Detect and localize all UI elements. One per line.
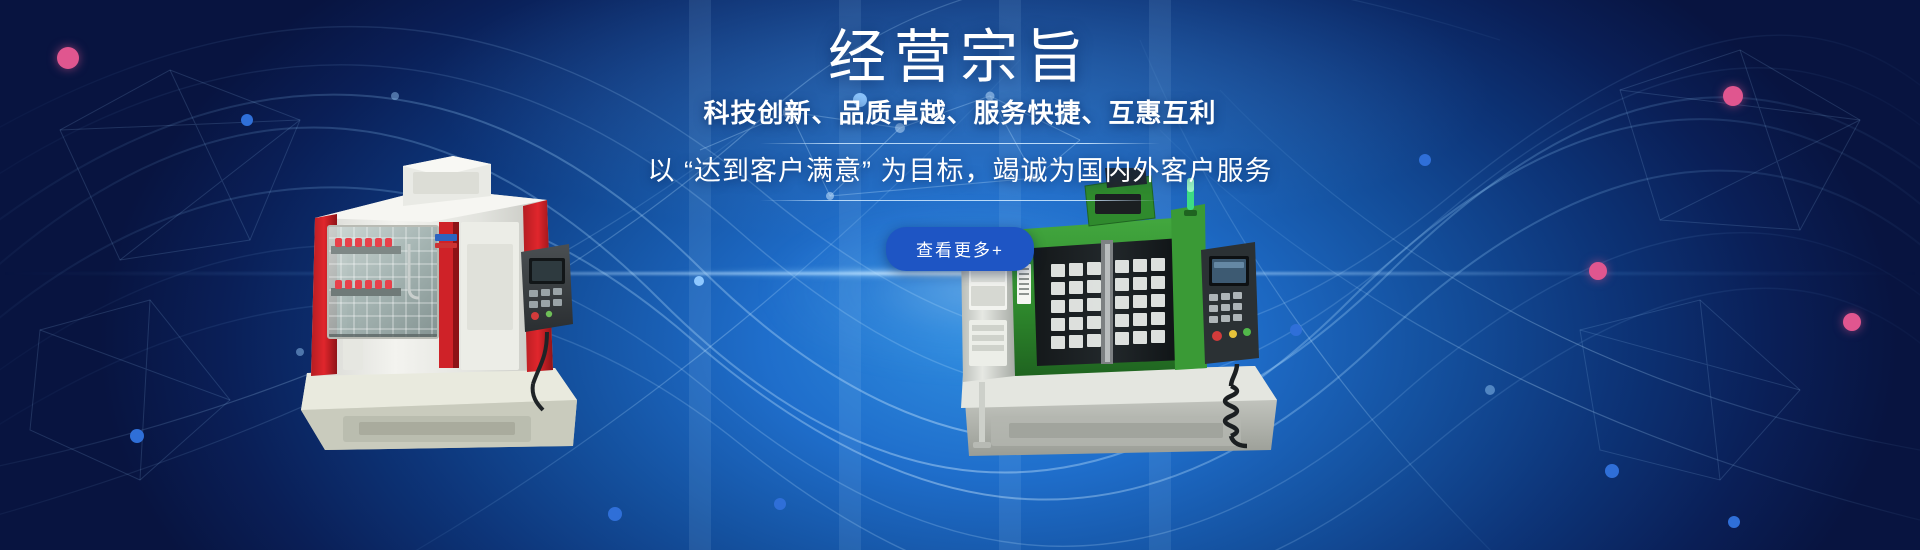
- decor-dot: [1485, 385, 1495, 395]
- view-more-button[interactable]: 查看更多+: [886, 227, 1034, 271]
- decor-dot: [1843, 313, 1861, 331]
- decor-dot: [1728, 516, 1740, 528]
- decor-dot: [1290, 324, 1302, 336]
- banner-copy: 经营宗旨 科技创新、品质卓越、服务快捷、互惠互利 以 “达到客户满意” 为目标，…: [0, 0, 1920, 271]
- hero-banner: 经营宗旨 科技创新、品质卓越、服务快捷、互惠互利 以 “达到客户满意” 为目标，…: [0, 0, 1920, 550]
- decor-dot: [608, 507, 622, 521]
- page-title: 经营宗旨: [0, 0, 1920, 92]
- divider-top: [760, 143, 1160, 144]
- banner-tagline: 以 “达到客户满意” 为目标，竭诚为国内外客户服务: [0, 154, 1920, 189]
- decor-dot: [694, 276, 704, 286]
- banner-subtitle: 科技创新、品质卓越、服务快捷、互惠互利: [0, 92, 1920, 131]
- decor-dot: [1605, 464, 1619, 478]
- divider-bottom: [760, 200, 1160, 201]
- decor-dot: [774, 498, 786, 510]
- decor-dot: [130, 429, 144, 443]
